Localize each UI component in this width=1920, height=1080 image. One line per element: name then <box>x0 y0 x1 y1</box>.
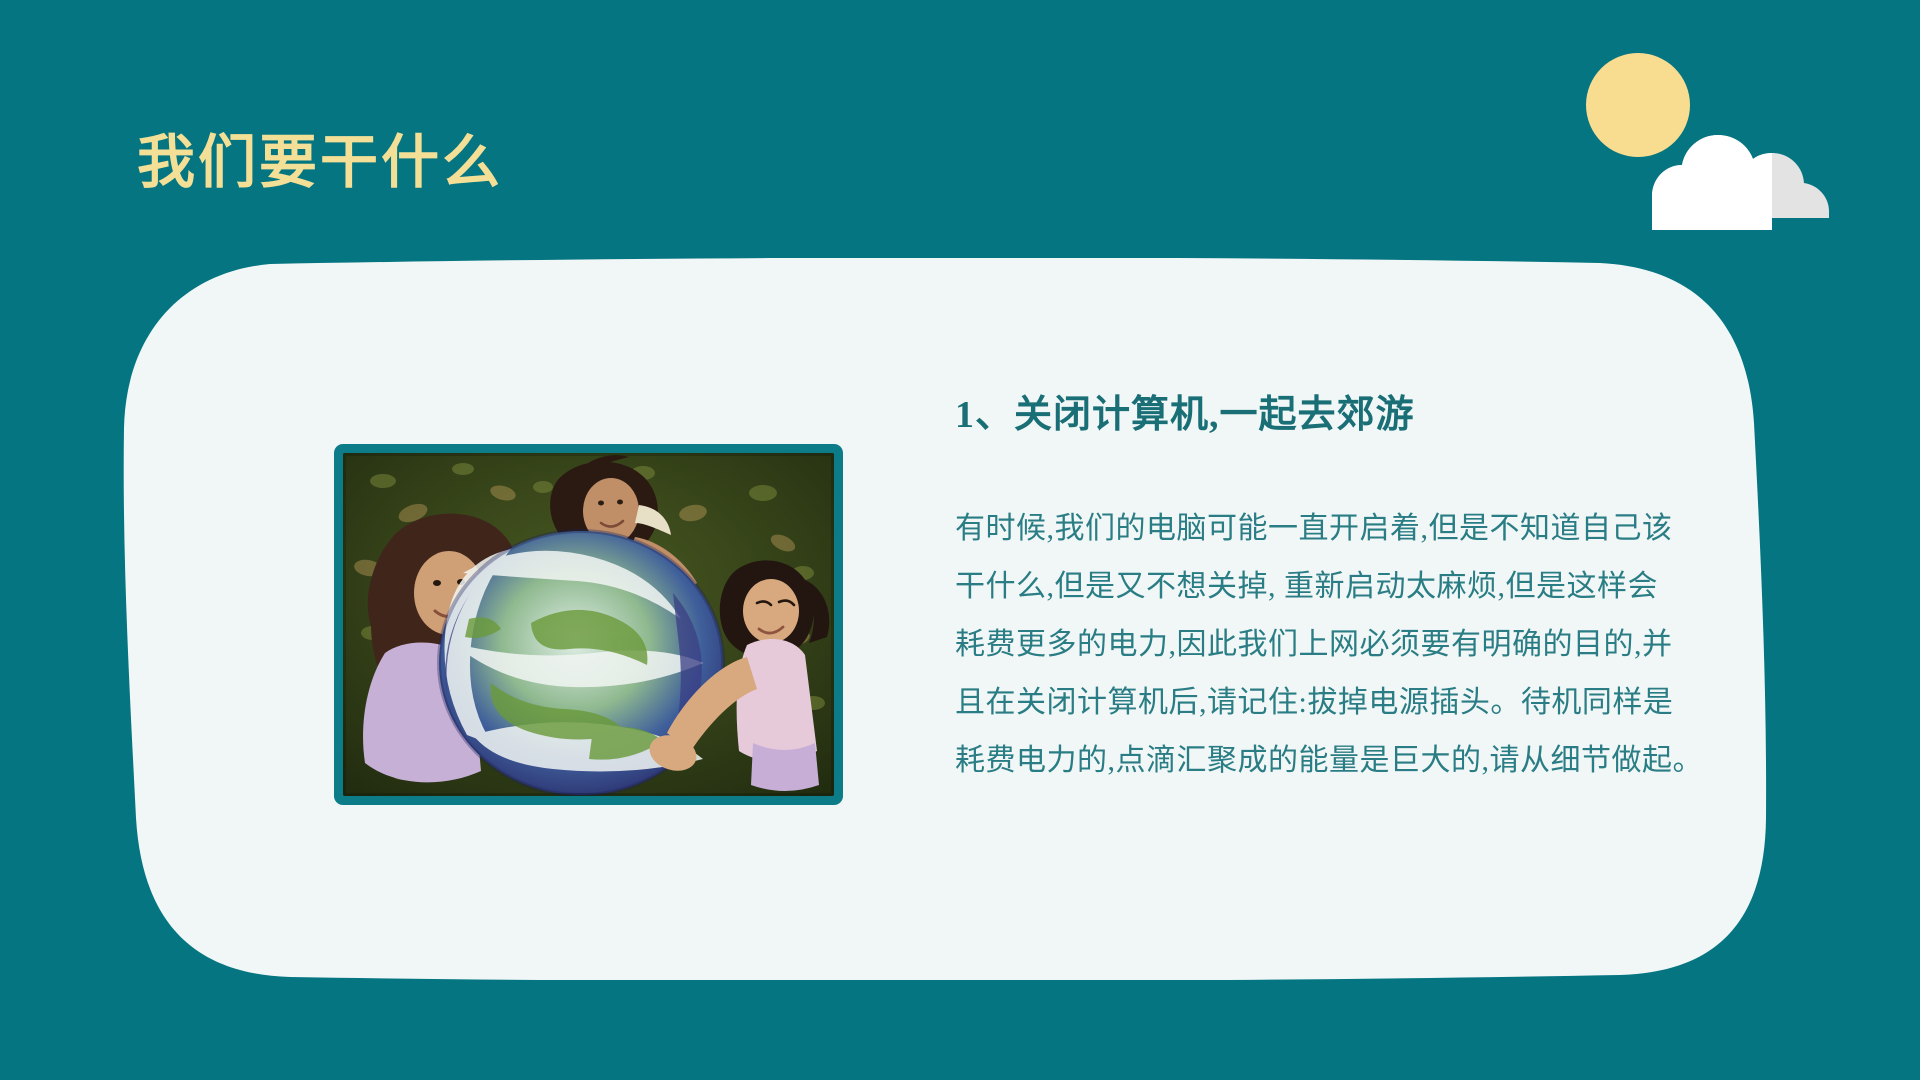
body-line: 耗费电力的,点滴汇聚成的能量是巨大的,请从细节做起。 <box>955 732 1755 790</box>
sun-cloud-decoration <box>1580 0 1920 230</box>
section-heading: 1、关闭计算机,一起去郊游 <box>955 392 1755 440</box>
body-line: 耗费更多的电力,因此我们上网必须要有明确的目的,并 <box>955 616 1755 674</box>
presentation-slide: 我们要干什么 <box>0 0 1920 1080</box>
body-line: 有时候,我们的电脑可能一直开启着,但是不知道自己该 <box>955 500 1755 558</box>
photo-frame <box>334 444 843 805</box>
sun-icon <box>1586 53 1690 157</box>
body-line: 且在关闭计算机后,请记住:拔掉电源插头。待机同样是 <box>955 674 1755 732</box>
children-hugging-earth-globe-photo <box>343 453 834 796</box>
page-title: 我们要干什么 <box>137 131 503 195</box>
text-column: 1、关闭计算机,一起去郊游 有时候,我们的电脑可能一直开启着,但是不知道自己该 … <box>955 392 1755 790</box>
body-line: 干什么,但是又不想关掉, 重新启动太麻烦,但是这样会 <box>955 558 1755 616</box>
cloud-icon <box>1652 135 1829 230</box>
body-paragraph: 有时候,我们的电脑可能一直开启着,但是不知道自己该 干什么,但是又不想关掉, 重… <box>955 500 1755 790</box>
